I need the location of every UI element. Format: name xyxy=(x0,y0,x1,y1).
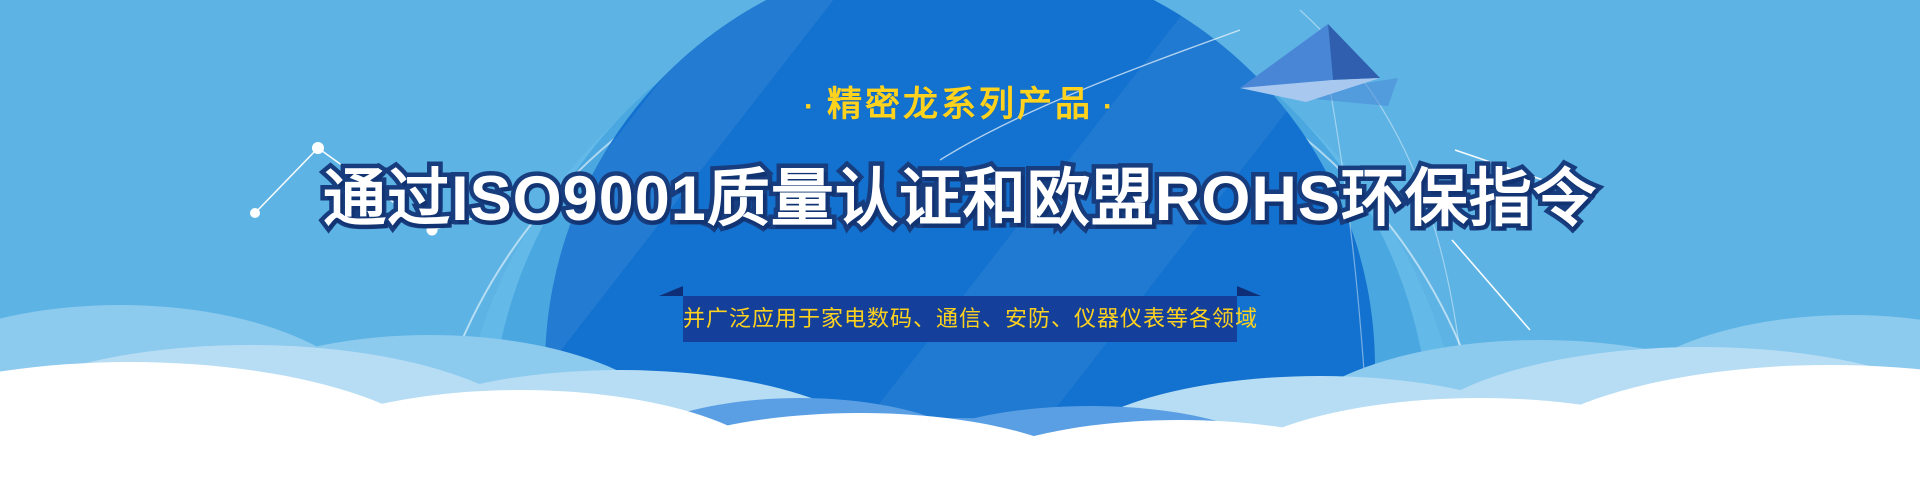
eyebrow-right-dot: · xyxy=(1093,90,1126,123)
ribbon-text: 并广泛应用于家电数码、通信、安防、仪器仪表等各领域 xyxy=(683,296,1237,342)
promo-banner: ·精密龙系列产品· 通过ISO9001质量认证和欧盟ROHS环保指令 并广泛应用… xyxy=(0,0,1920,480)
headline-text: 通过ISO9001质量认证和欧盟ROHS环保指令 xyxy=(0,148,1920,239)
ribbon-fold-right xyxy=(1237,286,1261,296)
eyebrow-text: 精密龙系列产品 xyxy=(827,85,1093,124)
banner-content: ·精密龙系列产品· 通过ISO9001质量认证和欧盟ROHS环保指令 并广泛应用… xyxy=(0,0,1920,480)
ribbon-fold-left xyxy=(659,286,683,296)
subtitle-ribbon: 并广泛应用于家电数码、通信、安防、仪器仪表等各领域 xyxy=(683,296,1237,342)
eyebrow-left-dot: · xyxy=(794,90,827,123)
eyebrow-line: ·精密龙系列产品· xyxy=(0,76,1920,127)
